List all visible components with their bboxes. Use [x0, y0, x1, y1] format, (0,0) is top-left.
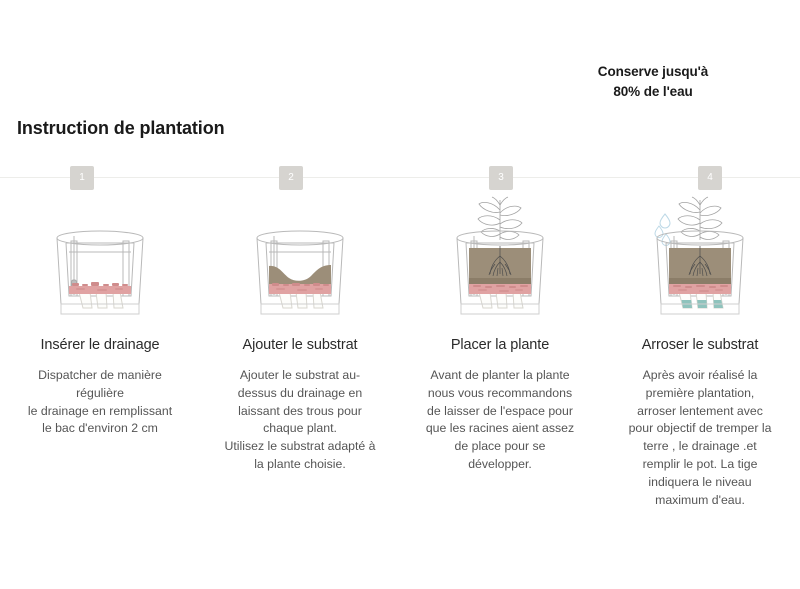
plant-foliage [478, 197, 522, 240]
step-body-4: Après avoir réalisé la première plantati… [615, 367, 785, 510]
stepper-rail [0, 177, 800, 178]
planter-drainage-illustration [0, 196, 200, 322]
step-title-3: Placer la plante [451, 337, 549, 353]
plant-foliage [678, 197, 722, 240]
step-body-3: Avant de planter la plante nous vous rec… [415, 367, 585, 474]
water-saving-claim-line-1: Conserve jusqu'à [538, 62, 768, 82]
instruction-step-2: Ajouter le substrat Ajouter le substrat … [200, 196, 400, 510]
step-title-2: Ajouter le substrat [243, 337, 358, 353]
page-title: Instruction de plantation [17, 118, 225, 139]
step-badge-4[interactable]: 4 [698, 166, 722, 190]
water-saving-claim-line-2: 80% de l'eau [538, 82, 768, 102]
instruction-columns: Insérer le drainage Dispatcher de manièr… [0, 196, 800, 510]
planter-plant-illustration [400, 196, 600, 322]
step-body-1: Dispatcher de manière régulière le drain… [15, 367, 185, 438]
step-body-2: Ajouter le substrat au- dessus du draina… [215, 367, 385, 474]
step-badge-2[interactable]: 2 [279, 166, 303, 190]
stepper: 1 2 3 4 [0, 166, 800, 190]
instruction-step-3: Placer la plante Avant de planter la pla… [400, 196, 600, 510]
step-title-1: Insérer le drainage [40, 337, 159, 353]
instruction-step-1: Insérer le drainage Dispatcher de manièr… [0, 196, 200, 510]
water-saving-claim: Conserve jusqu'à 80% de l'eau [538, 62, 768, 101]
step-title-4: Arroser le substrat [642, 337, 759, 353]
planter-substrate-illustration [200, 196, 400, 322]
planter-watering-illustration [600, 196, 800, 322]
instruction-step-4: Arroser le substrat Après avoir réalisé … [600, 196, 800, 510]
step-badge-1[interactable]: 1 [70, 166, 94, 190]
step-badge-3[interactable]: 3 [489, 166, 513, 190]
